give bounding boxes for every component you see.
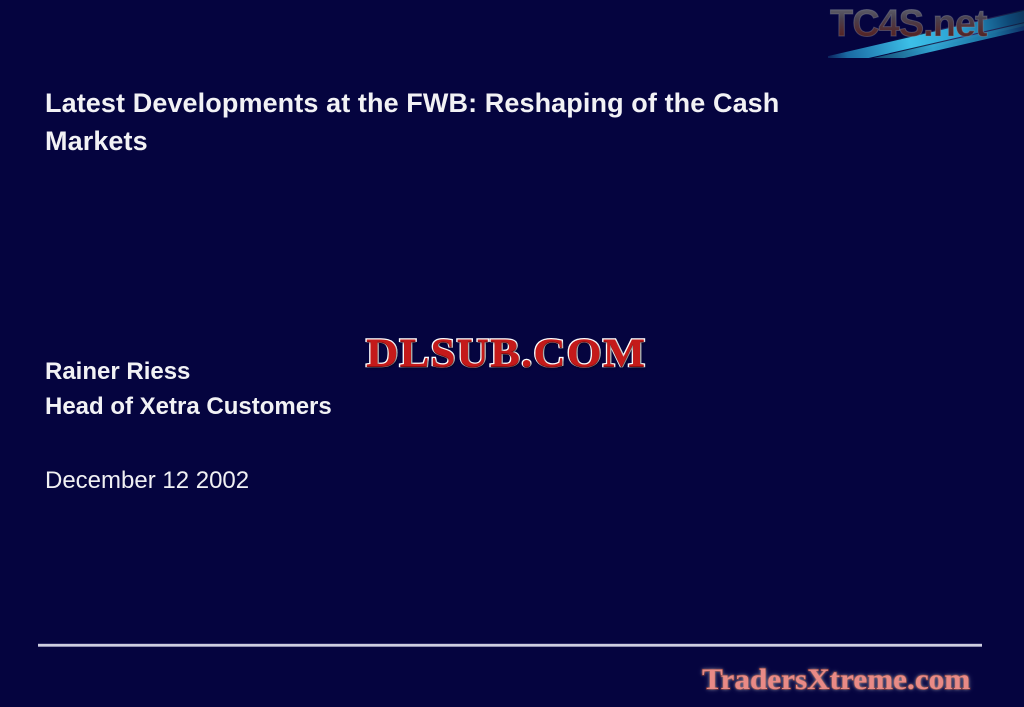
watermark-tc4s: TC4S.net TC4S.net: [828, 2, 1024, 58]
watermark-tc4s-outline: TC4S.net: [830, 3, 987, 46]
presenter-role: Head of Xetra Customers: [45, 389, 605, 424]
presentation-slide: Latest Developments at the FWB: Reshapin…: [0, 0, 1024, 707]
presentation-date: December 12 2002: [45, 466, 249, 496]
page-title: Latest Developments at the FWB: Reshapin…: [45, 84, 925, 160]
divider-shadow-bottom: [38, 646, 982, 647]
footer-divider: [38, 643, 982, 648]
watermark-tradersxtreme: TradersXtreme.com: [702, 663, 970, 701]
title-line-2: Markets: [45, 122, 925, 160]
title-line-1: Latest Developments at the FWB: Reshapin…: [45, 84, 925, 122]
watermark-dlsub: DLSUB.COM: [366, 329, 646, 377]
